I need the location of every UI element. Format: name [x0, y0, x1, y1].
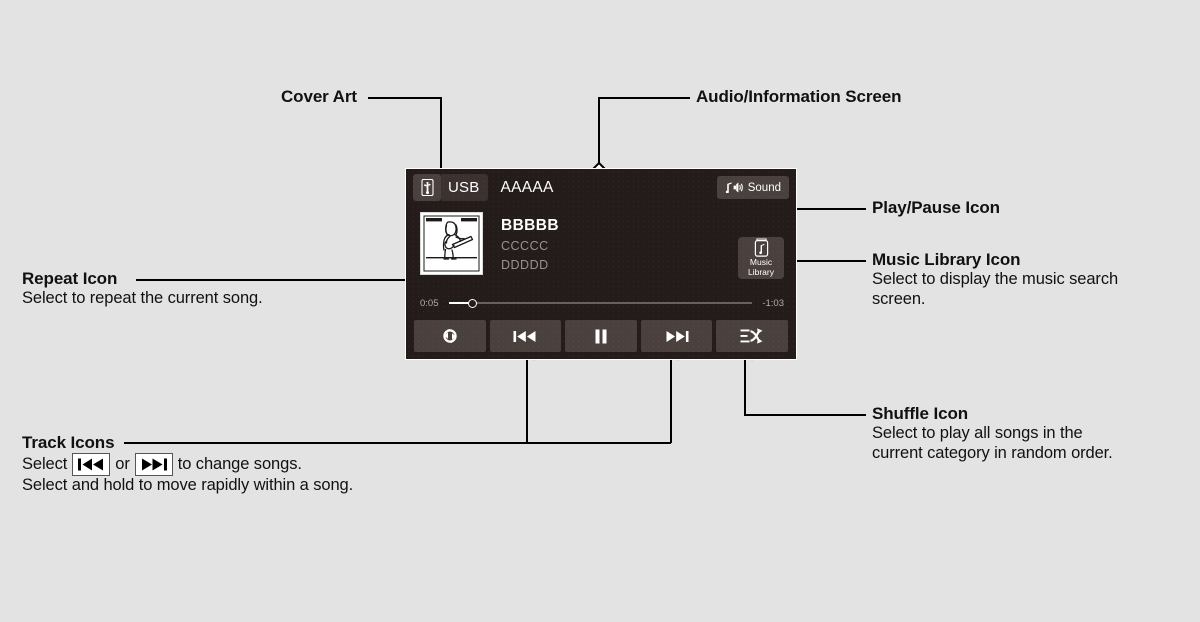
annotation-shuffle-title: Shuffle Icon	[872, 404, 1113, 424]
annotation-music-library-line2: screen.	[872, 290, 1118, 309]
diagram-stage: Cover Art Audio/Information Screen Play/…	[0, 0, 1200, 622]
previous-track-icon-inline	[72, 453, 110, 476]
source-label: USB	[441, 174, 488, 201]
shuffle-icon	[740, 328, 764, 344]
annotation-track-icons-title: Track Icons	[22, 433, 353, 453]
annotation-track-line1-b: or	[115, 455, 129, 474]
repeat-button[interactable]	[414, 320, 486, 352]
annotation-play-pause: Play/Pause Icon	[872, 198, 1000, 218]
previous-track-button[interactable]	[490, 320, 562, 352]
current-track-name: AAAAA	[500, 179, 553, 197]
playback-controls	[414, 320, 788, 352]
annotation-repeat-line1: Select to repeat the current song.	[22, 289, 263, 308]
play-pause-button[interactable]	[565, 320, 637, 352]
progress-slider[interactable]	[449, 298, 753, 308]
previous-track-icon	[513, 330, 537, 343]
annotation-shuffle-line1: Select to play all songs in the	[872, 424, 1113, 443]
guitarist-cover-art-icon	[421, 213, 482, 274]
annotation-audio-info-screen: Audio/Information Screen	[696, 87, 901, 107]
callout-audio-screen	[599, 98, 690, 170]
sound-button[interactable]: Sound	[717, 176, 789, 199]
usb-source-button[interactable]	[413, 174, 441, 201]
next-track-button[interactable]	[641, 320, 713, 352]
shuffle-button[interactable]	[716, 320, 788, 352]
annotation-repeat: Repeat Icon Select to repeat the current…	[22, 269, 263, 309]
music-library-label-line2: Library	[748, 267, 774, 277]
annotation-play-pause-title: Play/Pause Icon	[872, 198, 1000, 218]
annotation-track-line1-c: to change songs.	[178, 455, 302, 474]
annotation-audio-info-screen-title: Audio/Information Screen	[696, 87, 901, 107]
annotation-track-line1-a: Select	[22, 455, 67, 474]
annotation-track-icons-body: Select or to change songs.	[22, 453, 353, 495]
annotation-repeat-title: Repeat Icon	[22, 269, 263, 289]
next-track-icon	[665, 330, 689, 343]
progress-knob[interactable]	[468, 299, 477, 308]
song-title: BBBBB	[501, 217, 559, 234]
annotation-music-library-line1: Select to display the music search	[872, 270, 1118, 289]
annotation-track-icons-line1: Select or to change songs.	[22, 453, 353, 476]
song-artist: CCCCC	[501, 239, 559, 253]
screen-top-bar: USB AAAAA Sound	[406, 169, 796, 206]
annotation-track-icons: Track Icons Select or	[22, 433, 353, 496]
next-track-icon-inline	[135, 453, 173, 476]
annotation-music-library-title: Music Library Icon	[872, 250, 1118, 270]
annotation-cover-art-title: Cover Art	[281, 87, 357, 107]
song-album: DDDDD	[501, 258, 559, 272]
sound-button-label: Sound	[748, 182, 781, 194]
usb-icon	[421, 179, 434, 196]
repeat-icon	[439, 328, 461, 344]
progress-bar-row: 0:05 -1:03	[420, 295, 784, 311]
annotation-track-icons-line2: Select and hold to move rapidly within a…	[22, 476, 353, 495]
annotation-repeat-body: Select to repeat the current song.	[22, 289, 263, 308]
annotation-shuffle-body: Select to play all songs in the current …	[872, 424, 1113, 463]
progress-track	[449, 302, 753, 304]
audio-information-screen: USB AAAAA Sound	[405, 168, 797, 360]
remaining-time: -1:03	[762, 298, 784, 309]
annotation-cover-art: Cover Art	[281, 87, 357, 107]
song-info: BBBBB CCCCC DDDDD	[501, 217, 559, 273]
elapsed-time: 0:05	[420, 298, 439, 309]
music-library-label-line1: Music	[750, 257, 772, 267]
annotation-music-library: Music Library Icon Select to display the…	[872, 250, 1118, 309]
pause-icon	[594, 329, 608, 344]
music-library-button-label: Music Library	[748, 258, 774, 277]
music-library-button[interactable]: Music Library	[738, 237, 784, 279]
annotation-music-library-body: Select to display the music search scree…	[872, 270, 1118, 309]
note-speaker-icon	[725, 182, 743, 193]
cover-art	[420, 212, 483, 275]
music-library-icon	[754, 238, 769, 257]
annotation-shuffle-line2: current category in random order.	[872, 444, 1113, 463]
annotation-shuffle: Shuffle Icon Select to play all songs in…	[872, 404, 1113, 463]
